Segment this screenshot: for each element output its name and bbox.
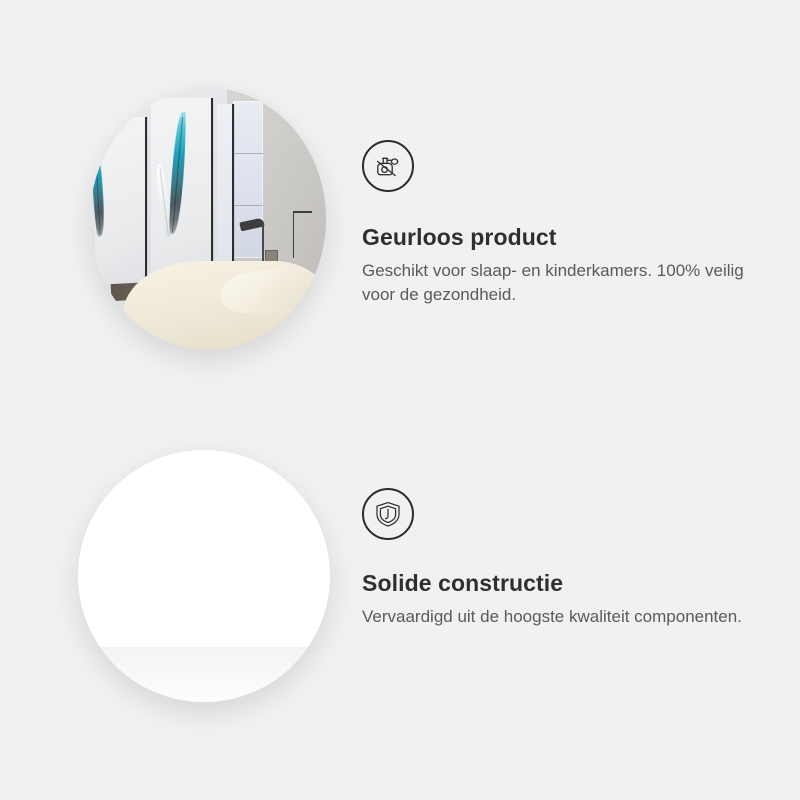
feather-wall-art-bedroom-photo	[90, 88, 326, 350]
wall-lamp-arm-horizontal	[293, 211, 312, 213]
white-surface	[78, 647, 330, 702]
feature-block-solid-construction: Solide constructie Vervaardigd uit de ho…	[0, 420, 800, 720]
feature-title: Solide constructie	[362, 570, 762, 597]
feature-description: Geschikt voor slaap- en kinderkamers. 10…	[362, 259, 747, 307]
shield-icon	[362, 488, 414, 540]
feature-image-solid-construction	[78, 450, 330, 702]
product-feature-page: Geurloos product Geschikt voor slaap- en…	[0, 0, 800, 800]
no-perfume-icon	[362, 140, 414, 192]
feature-description: Vervaardigd uit de hoogste kwaliteit com…	[362, 605, 747, 629]
feature-image-scent-free	[90, 88, 326, 350]
feather-graphic-1	[90, 141, 108, 236]
canvas-panel-edge	[145, 117, 147, 293]
feature-text-solid-construction: Solide constructie Vervaardigd uit de ho…	[362, 488, 762, 629]
feature-block-scent-free: Geurloos product Geschikt voor slaap- en…	[0, 60, 800, 380]
canvas-panel-1	[95, 117, 147, 293]
feather-graphic-2	[169, 112, 187, 234]
wooden-blocks-photo	[78, 450, 330, 702]
feature-title: Geurloos product	[362, 224, 762, 251]
feature-text-scent-free: Geurloos product Geschikt voor slaap- en…	[362, 140, 762, 307]
wall-lamp-arm-vertical	[293, 211, 295, 258]
bedroom-window	[233, 101, 264, 258]
bed-pillow-2	[259, 267, 322, 309]
